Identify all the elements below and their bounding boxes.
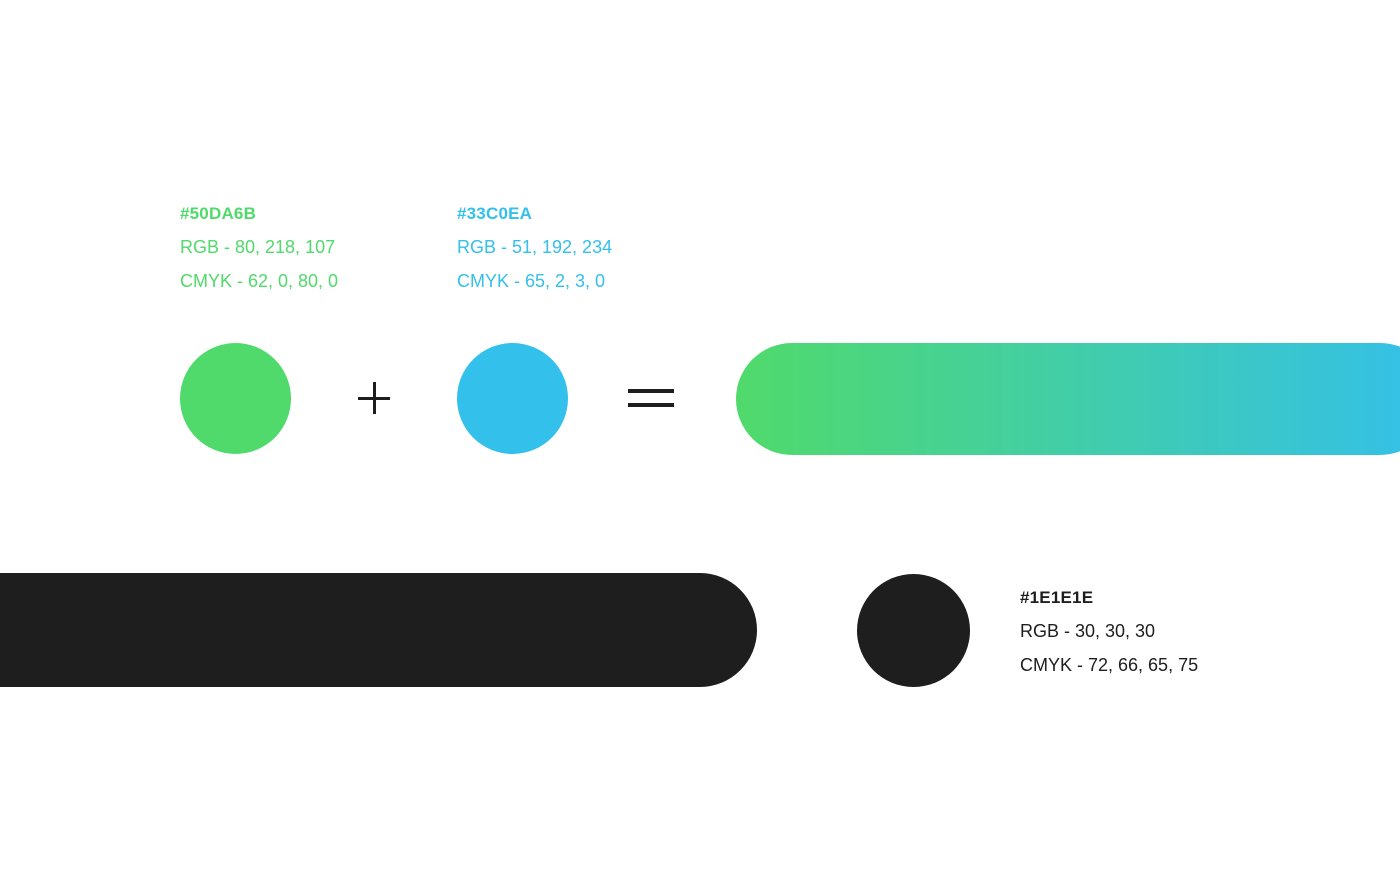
blue-hex-label: #33C0EA	[457, 205, 612, 222]
color-spec-dark: #1E1E1E RGB - 30, 30, 30 CMYK - 72, 66, …	[1020, 589, 1198, 674]
dark-cmyk-label: CMYK - 72, 66, 65, 75	[1020, 656, 1198, 674]
dark-rgb-label: RGB - 30, 30, 30	[1020, 622, 1198, 640]
equals-icon	[628, 382, 674, 414]
dark-bar	[0, 573, 757, 687]
green-cmyk-label: CMYK - 62, 0, 80, 0	[180, 272, 338, 290]
swatch-circle-dark	[857, 574, 970, 687]
blue-cmyk-label: CMYK - 65, 2, 3, 0	[457, 272, 612, 290]
green-rgb-label: RGB - 80, 218, 107	[180, 238, 338, 256]
green-hex-label: #50DA6B	[180, 205, 338, 222]
plus-icon-vertical-bar	[373, 382, 376, 414]
blue-rgb-label: RGB - 51, 192, 234	[457, 238, 612, 256]
swatch-circle-green	[180, 343, 291, 454]
color-palette-canvas: #50DA6B RGB - 80, 218, 107 CMYK - 62, 0,…	[0, 0, 1400, 889]
plus-icon	[358, 382, 390, 414]
color-spec-green: #50DA6B RGB - 80, 218, 107 CMYK - 62, 0,…	[180, 205, 338, 290]
gradient-bar-green-to-blue	[736, 343, 1400, 455]
dark-hex-label: #1E1E1E	[1020, 589, 1198, 606]
equals-icon-top-bar	[628, 389, 674, 393]
swatch-circle-blue	[457, 343, 568, 454]
equals-icon-bottom-bar	[628, 403, 674, 407]
color-spec-blue: #33C0EA RGB - 51, 192, 234 CMYK - 65, 2,…	[457, 205, 612, 290]
